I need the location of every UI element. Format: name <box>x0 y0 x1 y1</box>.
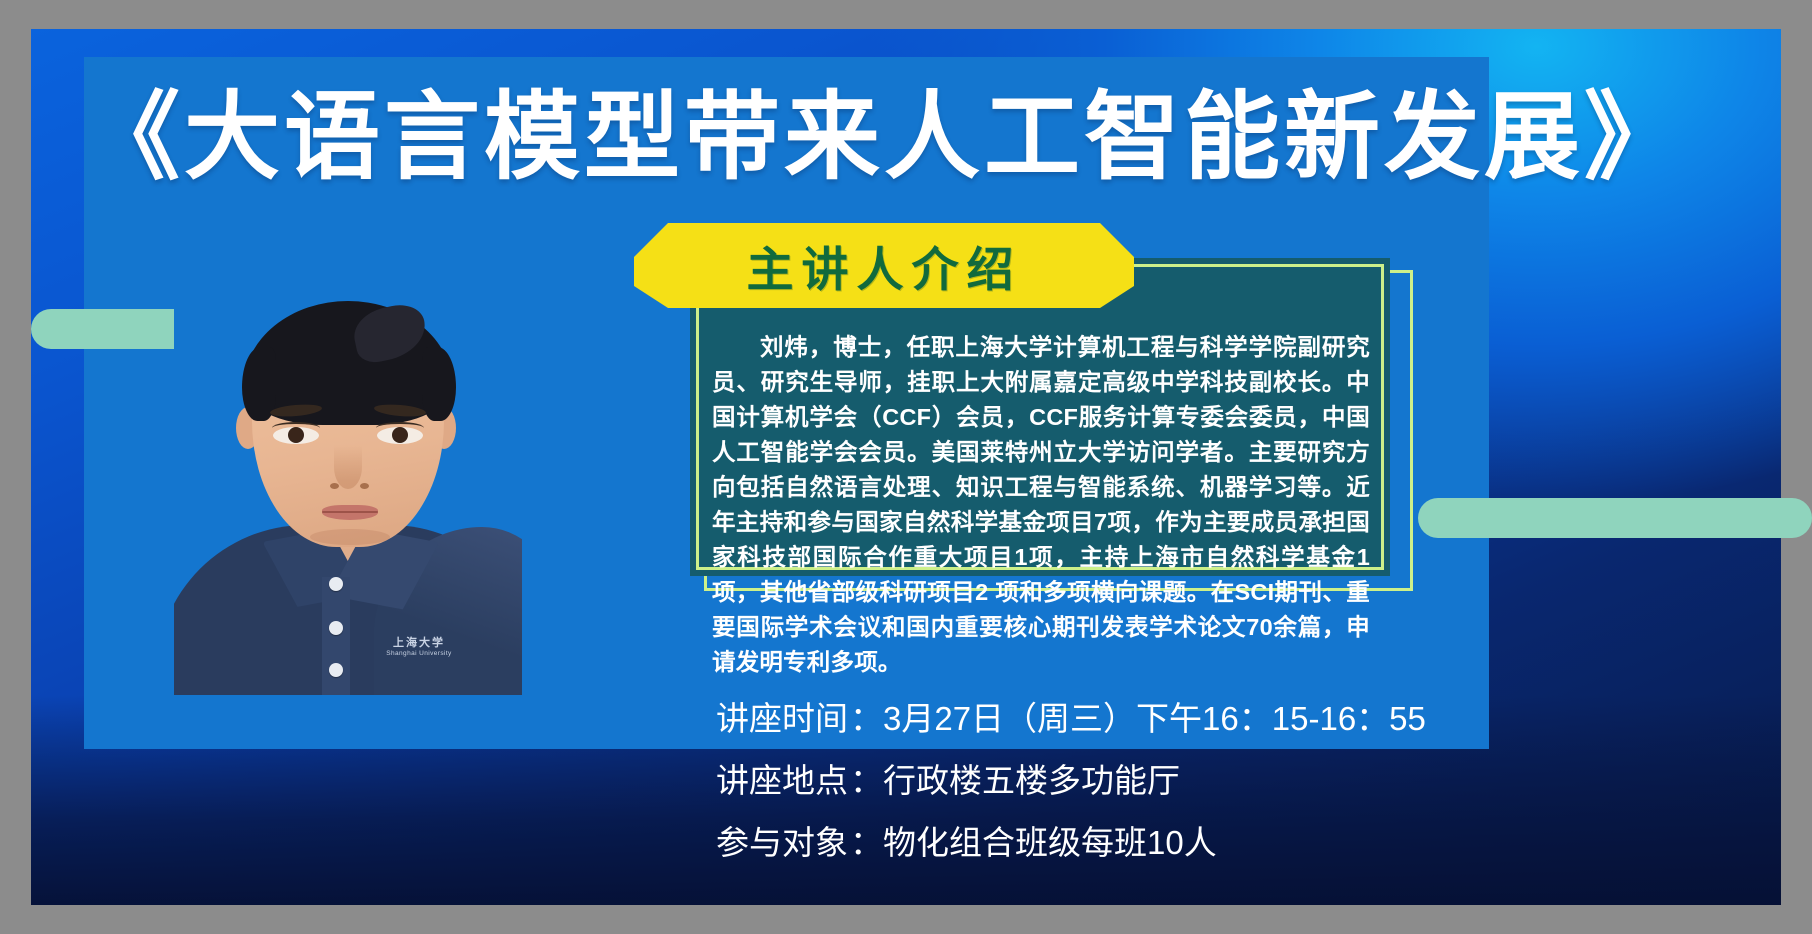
event-details-list: 讲座时间：3月27日（周三）下午16：15-16：55 讲座地点：行政楼五楼多功… <box>714 693 1494 879</box>
portrait-nose <box>334 445 362 489</box>
portrait-nostril-right <box>360 483 369 489</box>
shirt-logo-english-text: Shanghai University <box>364 650 474 657</box>
portrait-eyelid-left <box>272 422 320 434</box>
event-location-value: ：行政楼五楼多功能厅 <box>850 762 1180 799</box>
event-detail-row-audience: 参与对象：物化组合班级每班10人 <box>714 817 1494 869</box>
shirt-logo-chinese-text: 上海大学 <box>364 637 474 650</box>
event-detail-row-time: 讲座时间：3月27日（周三）下午16：15-16：55 <box>714 693 1494 745</box>
portrait-mouth-line <box>322 511 378 513</box>
event-audience-value: ：物化组合班级每班10人 <box>850 824 1217 861</box>
event-time-label: 讲座时间 <box>714 693 850 745</box>
portrait-eyelid-right <box>376 422 424 434</box>
portrait-shirt-button <box>329 621 343 635</box>
portrait-chin-shading <box>310 529 390 545</box>
speaker-biography-text: 刘炜，博士，任职上海大学计算机工程与科学学院副研究员、研究生导师，挂职上大附属嘉… <box>712 330 1370 680</box>
speaker-introduction-box: 刘炜，博士，任职上海大学计算机工程与科学学院副研究员、研究生导师，挂职上大附属嘉… <box>690 258 1415 593</box>
speaker-portrait-photo: 上海大学 Shanghai University <box>174 277 522 695</box>
event-location-label: 讲座地点 <box>714 755 850 807</box>
poster-frame: 《大语言模型带来人工智能新发展》 上海大学 Shanghai Universit… <box>0 0 1812 934</box>
portrait-shirt-logo: 上海大学 Shanghai University <box>364 637 474 657</box>
portrait-hair-side-right <box>422 347 456 421</box>
portrait-polo-placket <box>322 577 350 695</box>
portrait-shirt-button <box>329 663 343 677</box>
portrait-shirt-button <box>329 577 343 591</box>
portrait-nostril-left <box>330 483 339 489</box>
poster-title: 《大语言模型带来人工智能新发展》 <box>84 84 1489 192</box>
event-time-value: ：3月27日（周三）下午16：15-16：55 <box>850 700 1426 737</box>
decorative-pill-right <box>1418 498 1812 538</box>
event-audience-label: 参与对象 <box>714 817 850 869</box>
event-detail-row-location: 讲座地点：行政楼五楼多功能厅 <box>714 755 1494 807</box>
speaker-section-banner: 主讲人介绍 <box>634 223 1134 308</box>
speaker-section-banner-label: 主讲人介绍 <box>747 231 1022 300</box>
